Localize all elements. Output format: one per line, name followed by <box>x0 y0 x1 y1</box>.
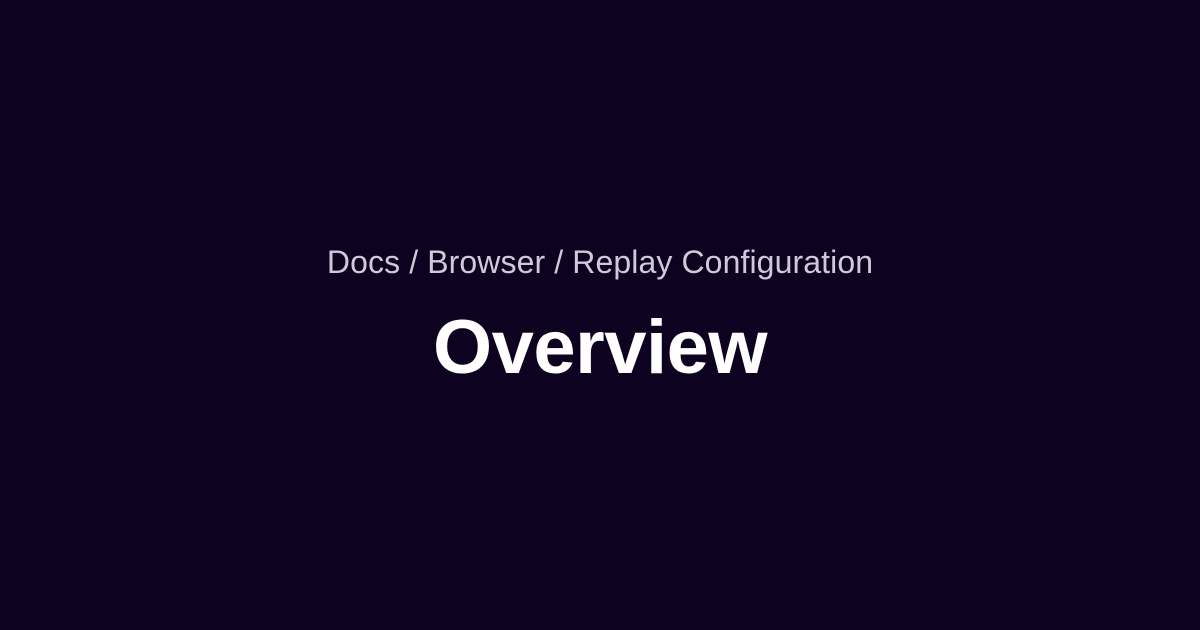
card-content: Docs / Browser / Replay Configuration Ov… <box>0 242 1200 388</box>
page-title: Overview <box>433 308 767 388</box>
breadcrumb-separator: / <box>400 242 427 282</box>
og-card: Docs / Browser / Replay Configuration Ov… <box>0 0 1200 630</box>
breadcrumb-separator: / <box>545 242 572 282</box>
breadcrumb-item-browser[interactable]: Browser <box>427 242 545 282</box>
breadcrumb-item-docs[interactable]: Docs <box>327 242 400 282</box>
breadcrumb-item-replay-configuration[interactable]: Replay Configuration <box>572 242 873 282</box>
breadcrumb: Docs / Browser / Replay Configuration <box>327 242 873 282</box>
